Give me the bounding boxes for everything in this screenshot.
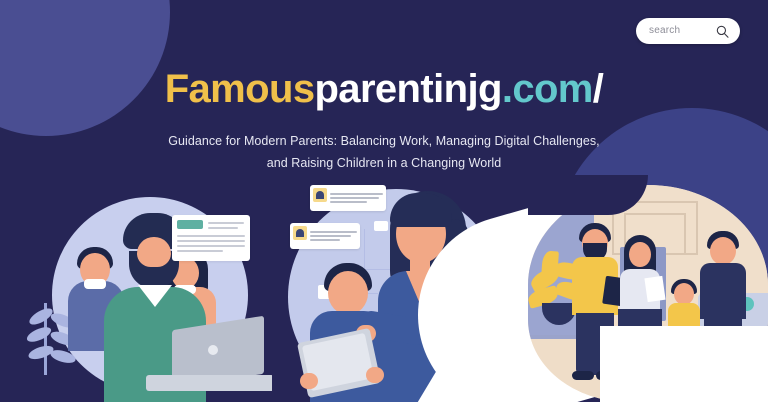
panel3-person-d-head (710, 237, 736, 265)
panel1-boy-collar (84, 279, 106, 289)
panel2-chat-lines (310, 226, 357, 246)
panel2-boy-hand (300, 373, 318, 389)
title-middle: parentinjg (314, 67, 501, 111)
panel3-person-b-head (629, 242, 651, 267)
illustration-father-with-laptop-and-children (22, 175, 272, 402)
panel1-leaf (25, 324, 53, 345)
panel2-chat-bubble (290, 223, 360, 249)
panel2-chat-avatar (293, 226, 307, 240)
panel1-father-face (137, 237, 171, 267)
panel2-mini-card (374, 221, 388, 231)
panel3-child-head (674, 283, 694, 305)
page-subtitle: Guidance for Modern Parents: Balancing W… (168, 131, 600, 174)
search-icon[interactable] (716, 25, 729, 38)
panel2-chat-avatar (313, 188, 327, 202)
subtitle-line-1: Guidance for Modern Parents: Balancing W… (168, 134, 529, 148)
search-box[interactable]: search (636, 18, 740, 44)
bottom-right-white-area (600, 326, 768, 402)
panel2-wire (364, 229, 365, 269)
panel1-laptop-base (146, 375, 272, 391)
title-tld: .com (502, 67, 593, 111)
panel1-document-card (172, 215, 250, 261)
search-input[interactable]: search (649, 26, 710, 36)
panel2-boy-head (328, 271, 368, 315)
panel3-person-d-jacket (700, 263, 746, 319)
title-brand: Famous (165, 67, 315, 111)
title-slash: / (593, 67, 604, 111)
page-title: Famousparentinjg.com/ (0, 68, 768, 110)
panel3-person-b-paper (644, 276, 665, 302)
panel3-person-a-shoe (572, 371, 594, 380)
hero-banner: search Famousparentinjg.com/ Guidance fo… (0, 0, 768, 402)
panel2-chat-bubble (310, 185, 386, 211)
panel2-chat-lines (330, 188, 383, 208)
panel1-card-header-block (177, 220, 203, 229)
panel1-laptop-logo (208, 345, 218, 355)
panel2-boy-hand (366, 367, 384, 383)
